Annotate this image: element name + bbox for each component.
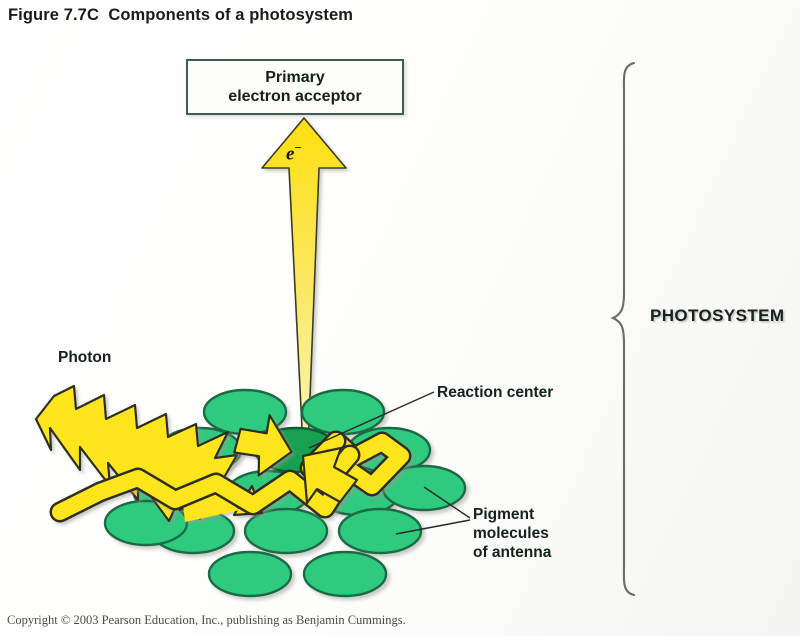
photosystem-brace xyxy=(613,63,634,595)
pigment-molecules-label: Pigment molecules of antenna xyxy=(473,505,551,562)
pigment-molecule xyxy=(302,390,384,434)
pigment-molecule xyxy=(304,552,386,596)
reaction-center-label: Reaction center xyxy=(437,383,553,402)
pigment-molecule xyxy=(209,552,291,596)
pigment-molecule xyxy=(245,509,327,553)
electron-symbol: e− xyxy=(286,140,302,165)
photosystem-bracket-label: PHOTOSYSTEM xyxy=(650,306,784,326)
copyright-notice: Copyright © 2003 Pearson Education, Inc.… xyxy=(7,613,406,628)
photon-label: Photon xyxy=(58,348,111,367)
electron-charge: − xyxy=(294,140,301,155)
figure-canvas: Figure 7.7C Components of a photosystem … xyxy=(0,0,800,636)
